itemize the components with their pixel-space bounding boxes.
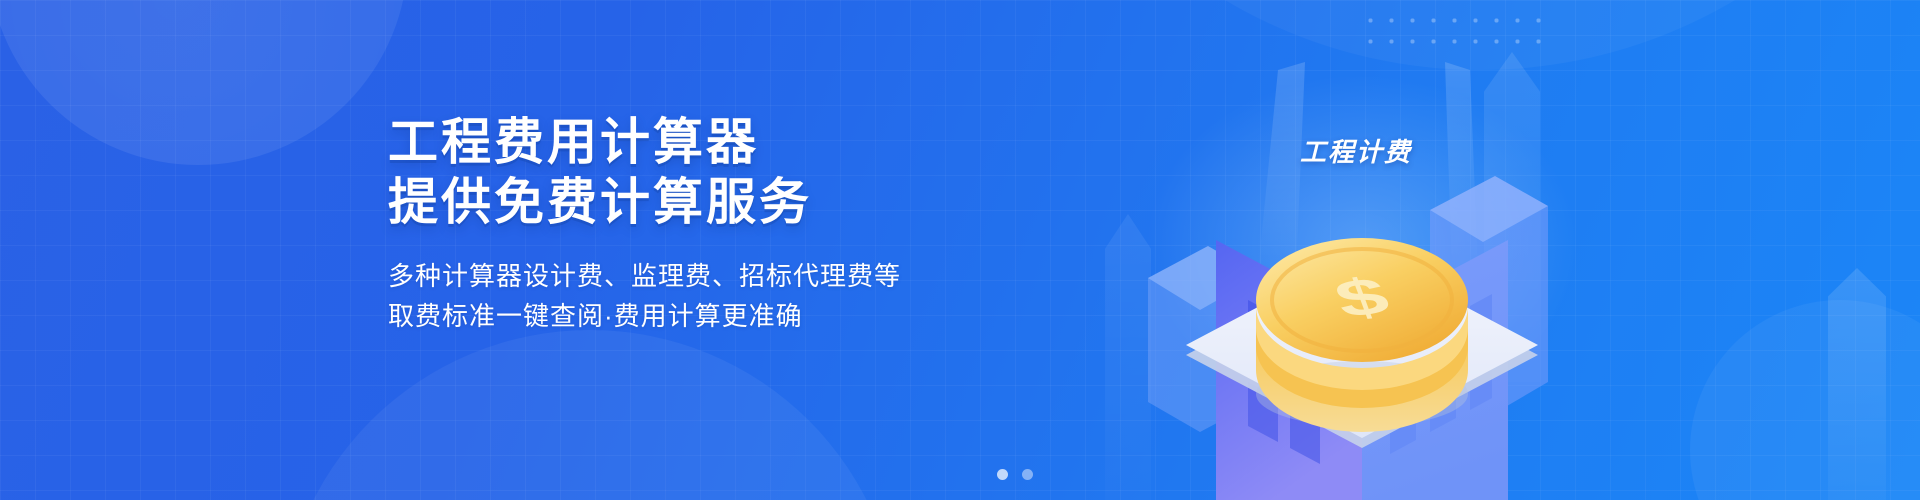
subcopy-line-2: 取费标准一键查阅·费用计算更准确: [388, 296, 1088, 336]
illustration-label: 工程计费: [1300, 132, 1412, 169]
coin-stack: $: [1256, 238, 1468, 432]
banner-subcopy: 多种计算器设计费、监理费、招标代理费等 取费标准一键查阅·费用计算更准确: [388, 256, 1088, 336]
pagination-dot-1[interactable]: [997, 469, 1008, 480]
decorative-bar-right: [1828, 268, 1886, 500]
headline-line-2: 提供免费计算服务: [388, 172, 1088, 232]
promo-banner: 工程费用计算器 提供免费计算服务 多种计算器设计费、监理费、招标代理费等 取费标…: [0, 0, 1920, 500]
banner-copy-block: 工程费用计算器 提供免费计算服务 多种计算器设计费、监理费、招标代理费等 取费标…: [388, 112, 1088, 336]
pagination-dot-2[interactable]: [1022, 469, 1033, 480]
banner-headline: 工程费用计算器 提供免费计算服务: [388, 112, 1088, 232]
banner-illustration: $ 工程计费: [1100, 0, 1620, 500]
headline-line-1: 工程费用计算器: [388, 112, 1088, 172]
isometric-building-coin-illustration: $: [1100, 0, 1620, 500]
subcopy-line-1: 多种计算器设计费、监理费、招标代理费等: [388, 256, 1088, 296]
carousel-pagination[interactable]: [0, 469, 1920, 480]
decorative-circle-top-left: [0, 0, 408, 165]
